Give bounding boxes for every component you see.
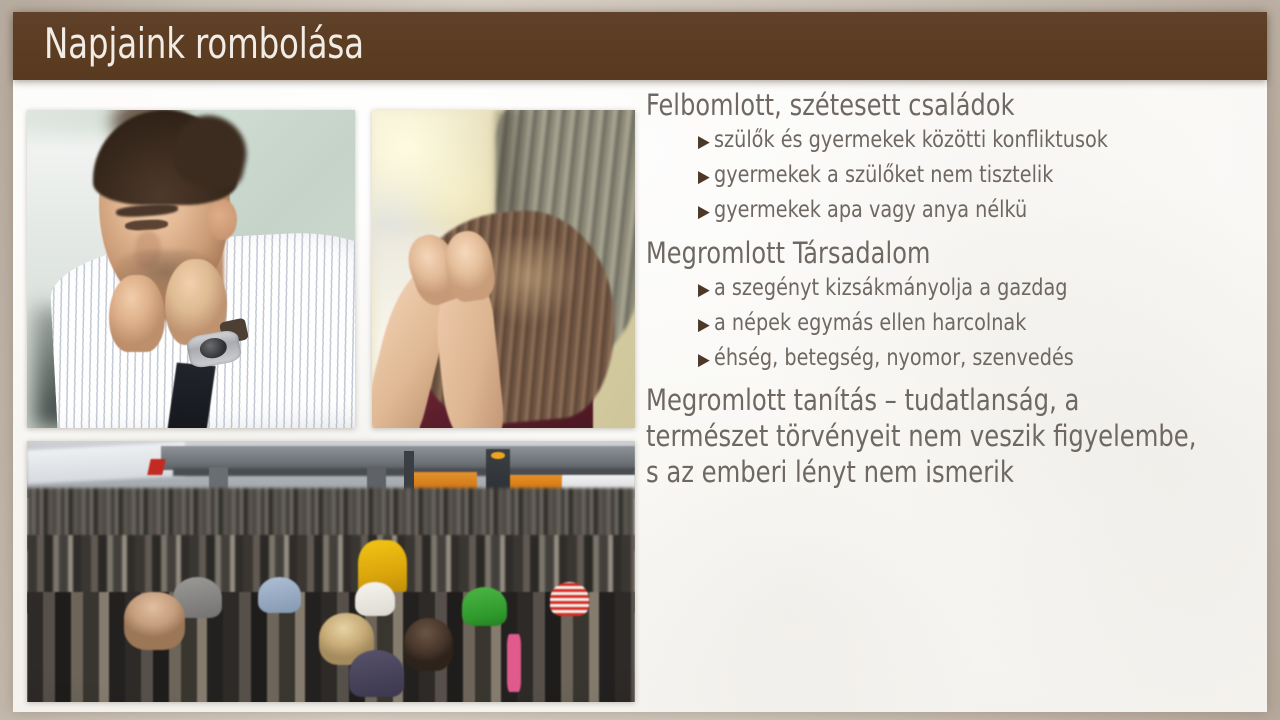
list-item: ▶ éhség, betegség, nyomor, szenvedés — [698, 342, 1246, 377]
slide-content: Felbomlott, szétesett családok ▶ szülők … — [646, 86, 1246, 490]
list-item: ▶ a szegényt kizsákmányolja a gazdag — [698, 272, 1246, 307]
list-item: ▶ szülők és gyermekek közötti konfliktus… — [698, 124, 1246, 159]
list-item-label: a szegényt kizsákmányolja a gazdag — [714, 272, 1067, 305]
triangle-bullet-icon: ▶ — [698, 344, 710, 377]
list-item: ▶ gyermekek a szülőket nem tisztelik — [698, 159, 1246, 194]
closing-paragraph: Megromlott tanítás – tudatlanság, a term… — [646, 382, 1197, 490]
section-heading-society: Megromlott Társadalom — [646, 234, 1198, 272]
presentation-slide: Napjaink rombolása — [0, 0, 1280, 720]
winter-crowd-photo — [27, 441, 635, 702]
triangle-bullet-icon: ▶ — [698, 161, 710, 194]
list-item-label: szülők és gyermekek közötti konfliktusok — [714, 124, 1108, 157]
slide-title-bar: Napjaink rombolása — [13, 12, 1267, 80]
section-heading-families: Felbomlott, szétesett családok — [646, 86, 1198, 124]
bullet-list-society: ▶ a szegényt kizsákmányolja a gazdag ▶ a… — [646, 272, 1246, 377]
triangle-bullet-icon: ▶ — [698, 126, 710, 159]
list-item: ▶ gyermekek apa vagy anya nélkü — [698, 194, 1246, 229]
page-title: Napjaink rombolása — [44, 19, 364, 68]
image-gallery — [27, 110, 635, 702]
triangle-bullet-icon: ▶ — [698, 274, 710, 307]
list-item-label: a népek egymás ellen harcolnak — [714, 307, 1026, 340]
list-item-label: éhség, betegség, nyomor, szenvedés — [714, 342, 1074, 375]
triangle-bullet-icon: ▶ — [698, 196, 710, 229]
pensive-man-photo — [27, 110, 355, 428]
list-item: ▶ a népek egymás ellen harcolnak — [698, 307, 1246, 342]
distressed-woman-photo — [372, 110, 635, 428]
bullet-list-families: ▶ szülők és gyermekek közötti konfliktus… — [646, 124, 1246, 229]
list-item-label: gyermekek a szülőket nem tisztelik — [714, 159, 1053, 192]
triangle-bullet-icon: ▶ — [698, 309, 710, 342]
list-item-label: gyermekek apa vagy anya nélkü — [714, 194, 1027, 227]
